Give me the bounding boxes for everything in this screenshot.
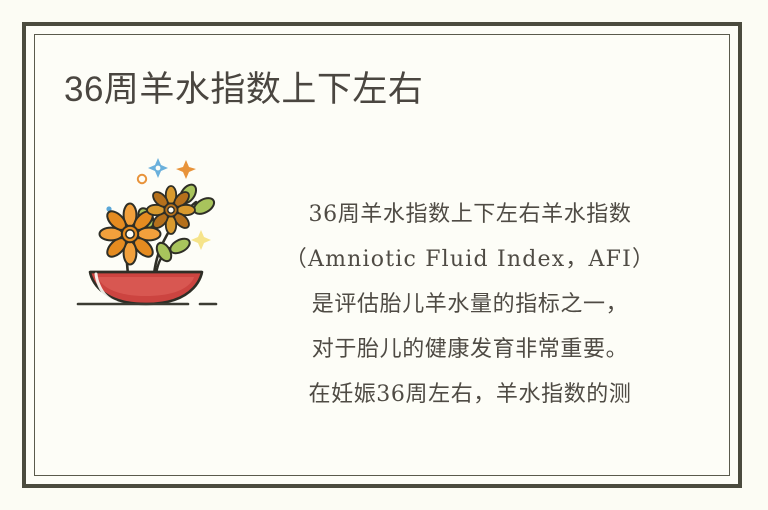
body-line: （Amniotic Fluid Index，AFI） [250,237,690,282]
body-line: 是评估胎儿羊水量的指标之一， [250,282,690,327]
sparkle-yellow-icon [191,230,211,250]
body-line: 对于胎儿的健康发育非常重要。 [250,327,690,372]
page-title: 36周羊水指数上下左右 [64,68,423,112]
article-page: 36周羊水指数上下左右 [0,0,768,510]
body-line: 在妊娠36周左右，羊水指数的测 [250,372,690,417]
sparkle-blue-icon [148,158,168,178]
sparkle-orange-star-icon [176,160,196,179]
article-body: 36周羊水指数上下左右羊水指数 （Amniotic Fluid Index，AF… [250,192,690,417]
decorative-frame-outer: 36周羊水指数上下左右 [22,22,742,488]
body-line: 36周羊水指数上下左右羊水指数 [250,192,690,237]
flower-pot-illustration [76,146,236,316]
flower-small [147,186,195,234]
bowl [90,272,202,304]
sparkle-orange-dot-icon [138,175,146,183]
